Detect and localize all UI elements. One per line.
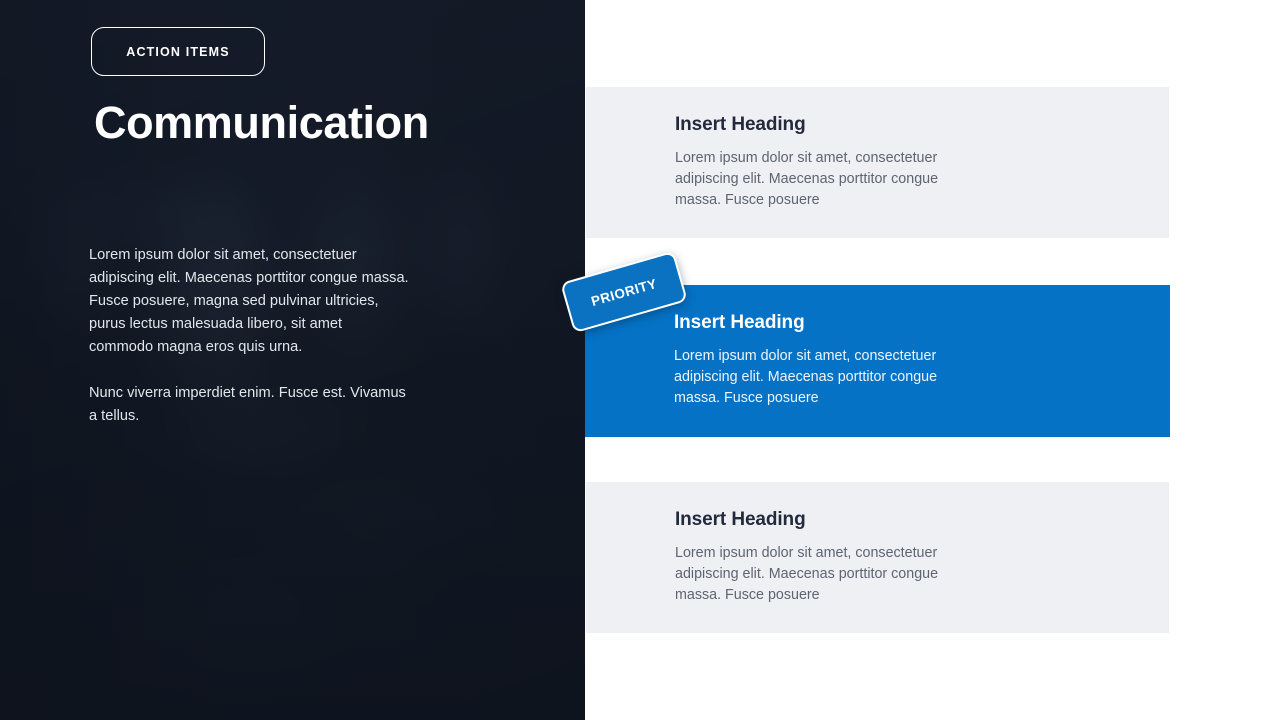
card-2-body: Lorem ipsum dolor sit amet, consectetuer… <box>674 346 974 409</box>
card-3-body: Lorem ipsum dolor sit amet, consectetuer… <box>675 543 975 606</box>
card-1-heading: Insert Heading <box>675 114 1169 136</box>
action-items-badge[interactable]: ACTION ITEMS <box>91 27 265 76</box>
content-card-3[interactable]: Insert Heading Lorem ipsum dolor sit ame… <box>586 482 1169 633</box>
page-title: Communication <box>94 98 429 148</box>
content-card-1[interactable]: Insert Heading Lorem ipsum dolor sit ame… <box>586 87 1169 238</box>
card-3-heading: Insert Heading <box>675 509 1169 531</box>
content-card-2-priority[interactable]: Insert Heading Lorem ipsum dolor sit ame… <box>585 285 1170 437</box>
card-1-body: Lorem ipsum dolor sit amet, consectetuer… <box>675 148 975 211</box>
card-2-heading: Insert Heading <box>674 312 1170 334</box>
slide-canvas: ACTION ITEMS Communication Lorem ipsum d… <box>0 0 1280 720</box>
left-body-copy: Lorem ipsum dolor sit amet, consectetuer… <box>89 244 409 428</box>
priority-ribbon-label: PRIORITY <box>589 275 658 308</box>
left-paragraph-1: Lorem ipsum dolor sit amet, consectetuer… <box>89 244 409 359</box>
left-paragraph-2: Nunc viverra imperdiet enim. Fusce est. … <box>89 382 409 428</box>
action-items-badge-label: ACTION ITEMS <box>126 45 229 59</box>
